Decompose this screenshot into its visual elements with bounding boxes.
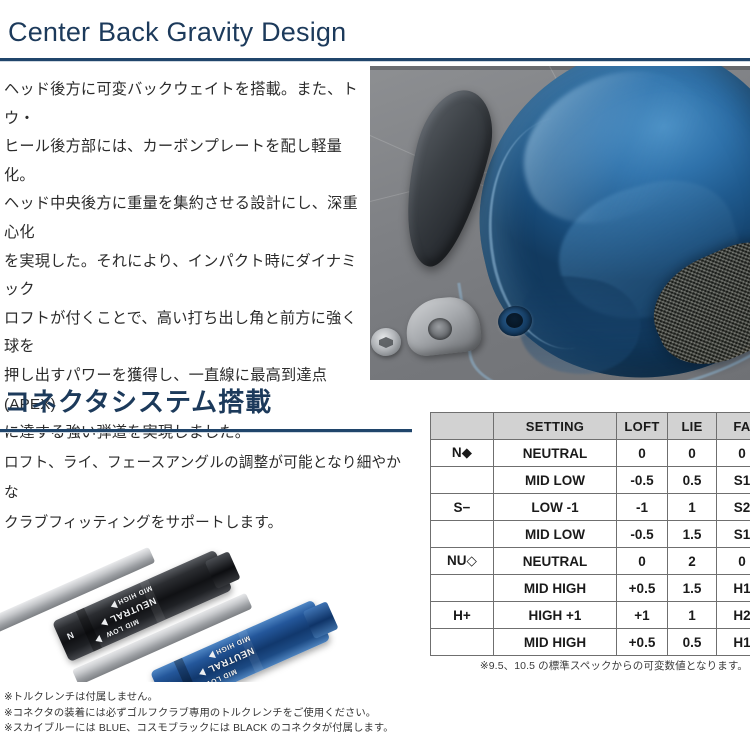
cell-fa: H1 — [717, 629, 750, 656]
cell-code — [431, 521, 494, 548]
footnotes: ※トルクレンチは付属しません。 ※コネクタの装着には必ずゴルフクラブ専用のトルク… — [4, 690, 434, 737]
cell-loft: -1 — [617, 494, 668, 521]
table-header-row: SETTING LOFT LIE FA — [431, 413, 750, 440]
col-header-code — [431, 413, 494, 440]
section2-heading-rule-thin — [0, 432, 412, 433]
table-row: H+ HIGH +1 +1 1 H2 — [431, 602, 750, 629]
cell-loft: 0 — [617, 440, 668, 467]
table-row: MID HIGH +0.5 0.5 H1 — [431, 629, 750, 656]
spec-table-wrapper: SETTING LOFT LIE FA N◆ NEUTRAL 0 0 0 MID… — [430, 412, 748, 656]
section1-body-line: に達する強い弾道を実現しました。 — [4, 419, 360, 448]
section1-body-line: ヒール後方部には、カーボンプレートを配し軽量化。 — [4, 133, 360, 190]
weight-port-bore — [506, 313, 523, 328]
cell-fa: S1 — [717, 521, 750, 548]
cell-setting: MID HIGH — [494, 575, 617, 602]
cell-loft: 0 — [617, 548, 668, 575]
table-row: MID LOW -0.5 1.5 S1 — [431, 521, 750, 548]
cell-lie: 1 — [668, 602, 717, 629]
cell-code: NU◇ — [431, 548, 494, 575]
cell-fa: 0 — [717, 440, 750, 467]
cell-loft: -0.5 — [617, 521, 668, 548]
footnote-line: ※スカイブルーには BLUE、コスモブラックには BLACK のコネクタが付属し… — [4, 721, 434, 737]
connector-ring — [174, 658, 200, 682]
product-feature-page: Center Back Gravity Design ヘッド後方に可変バックウェ… — [0, 0, 750, 750]
section1-heading-rule-thin — [0, 61, 750, 62]
section2-title: コネクタシステム搭載 — [4, 388, 414, 417]
connector-mark-label: N — [65, 630, 75, 642]
connector-mark-label: N — [163, 680, 173, 682]
connector-ring — [76, 608, 102, 652]
cell-lie: 1.5 — [668, 575, 717, 602]
cell-code: N◆ — [431, 440, 494, 467]
cell-code — [431, 575, 494, 602]
cell-lie: 0.5 — [668, 467, 717, 494]
table-row: MID LOW -0.5 0.5 S1 — [431, 467, 750, 494]
footnote-line: ※コネクタの装着には必ずゴルフクラブ専用のトルクレンチをご使用ください。 — [4, 706, 434, 722]
section1-body-line: ロフトが付くことで、高い打ち出し角と前方に強く球を — [4, 305, 360, 362]
cell-lie: 0 — [668, 440, 717, 467]
cell-setting: NEUTRAL — [494, 548, 617, 575]
cell-loft: +1 — [617, 602, 668, 629]
spec-table: SETTING LOFT LIE FA N◆ NEUTRAL 0 0 0 MID… — [430, 412, 750, 656]
cell-fa: S2 — [717, 494, 750, 521]
page-title: Center Back Gravity Design — [8, 18, 750, 48]
cell-code — [431, 467, 494, 494]
col-header-lie: LIE — [668, 413, 717, 440]
cell-lie: 2 — [668, 548, 717, 575]
back-weight-bore — [428, 318, 452, 340]
spec-table-body: N◆ NEUTRAL 0 0 0 MID LOW -0.5 0.5 S1 S− … — [431, 440, 750, 656]
cell-lie: 0.5 — [668, 629, 717, 656]
cell-lie: 1.5 — [668, 521, 717, 548]
cell-setting: NEUTRAL — [494, 440, 617, 467]
section2-body-line: ロフト、ライ、フェースアングルの調整が可能となり細やかな — [4, 448, 414, 508]
cell-fa: H1 — [717, 575, 750, 602]
cell-setting: MID LOW — [494, 521, 617, 548]
spec-table-note: ※9.5、10.5 の標準スペックからの可変数値となります。 — [430, 658, 748, 673]
cell-setting: HIGH +1 — [494, 602, 617, 629]
section1-body-line: を実現した。それにより、インパクト時にダイナミック — [4, 248, 360, 305]
connector-photo: N MID HIGH NEUTRAL MID LOW N MID HIGH NE… — [0, 512, 420, 682]
cell-fa: S1 — [717, 467, 750, 494]
cell-fa: 0 — [717, 548, 750, 575]
connector-arrow-icon — [198, 668, 207, 678]
cell-fa: H2 — [717, 602, 750, 629]
col-header-fa: FA — [717, 413, 750, 440]
section1-body-line: ヘッド後方に可変バックウェイトを搭載。また、トウ・ — [4, 76, 360, 133]
section1-heading-block: Center Back Gravity Design — [8, 18, 750, 48]
connector-tip — [303, 601, 339, 639]
section1-body-line: ヘッド中央後方に重量を集約させる設計にし、深重心化 — [4, 190, 360, 247]
table-row: MID HIGH +0.5 1.5 H1 — [431, 575, 750, 602]
table-row: S− LOW -1 -1 1 S2 — [431, 494, 750, 521]
connector-tip — [205, 551, 241, 589]
cell-setting: LOW -1 — [494, 494, 617, 521]
cell-lie: 1 — [668, 494, 717, 521]
connector-arrow-icon — [100, 618, 109, 628]
cell-loft: -0.5 — [617, 467, 668, 494]
cell-loft: +0.5 — [617, 575, 668, 602]
footnote-line: ※トルクレンチは付属しません。 — [4, 690, 434, 706]
cell-setting: MID HIGH — [494, 629, 617, 656]
cell-loft: +0.5 — [617, 629, 668, 656]
table-row: NU◇ NEUTRAL 0 2 0 — [431, 548, 750, 575]
col-header-loft: LOFT — [617, 413, 668, 440]
section2-heading-block: コネクタシステム搭載 — [4, 388, 414, 417]
col-header-setting: SETTING — [494, 413, 617, 440]
table-row: N◆ NEUTRAL 0 0 0 — [431, 440, 750, 467]
cell-setting: MID LOW — [494, 467, 617, 494]
cell-code — [431, 629, 494, 656]
cell-code: H+ — [431, 602, 494, 629]
cell-code: S− — [431, 494, 494, 521]
driver-head-render — [370, 66, 750, 380]
